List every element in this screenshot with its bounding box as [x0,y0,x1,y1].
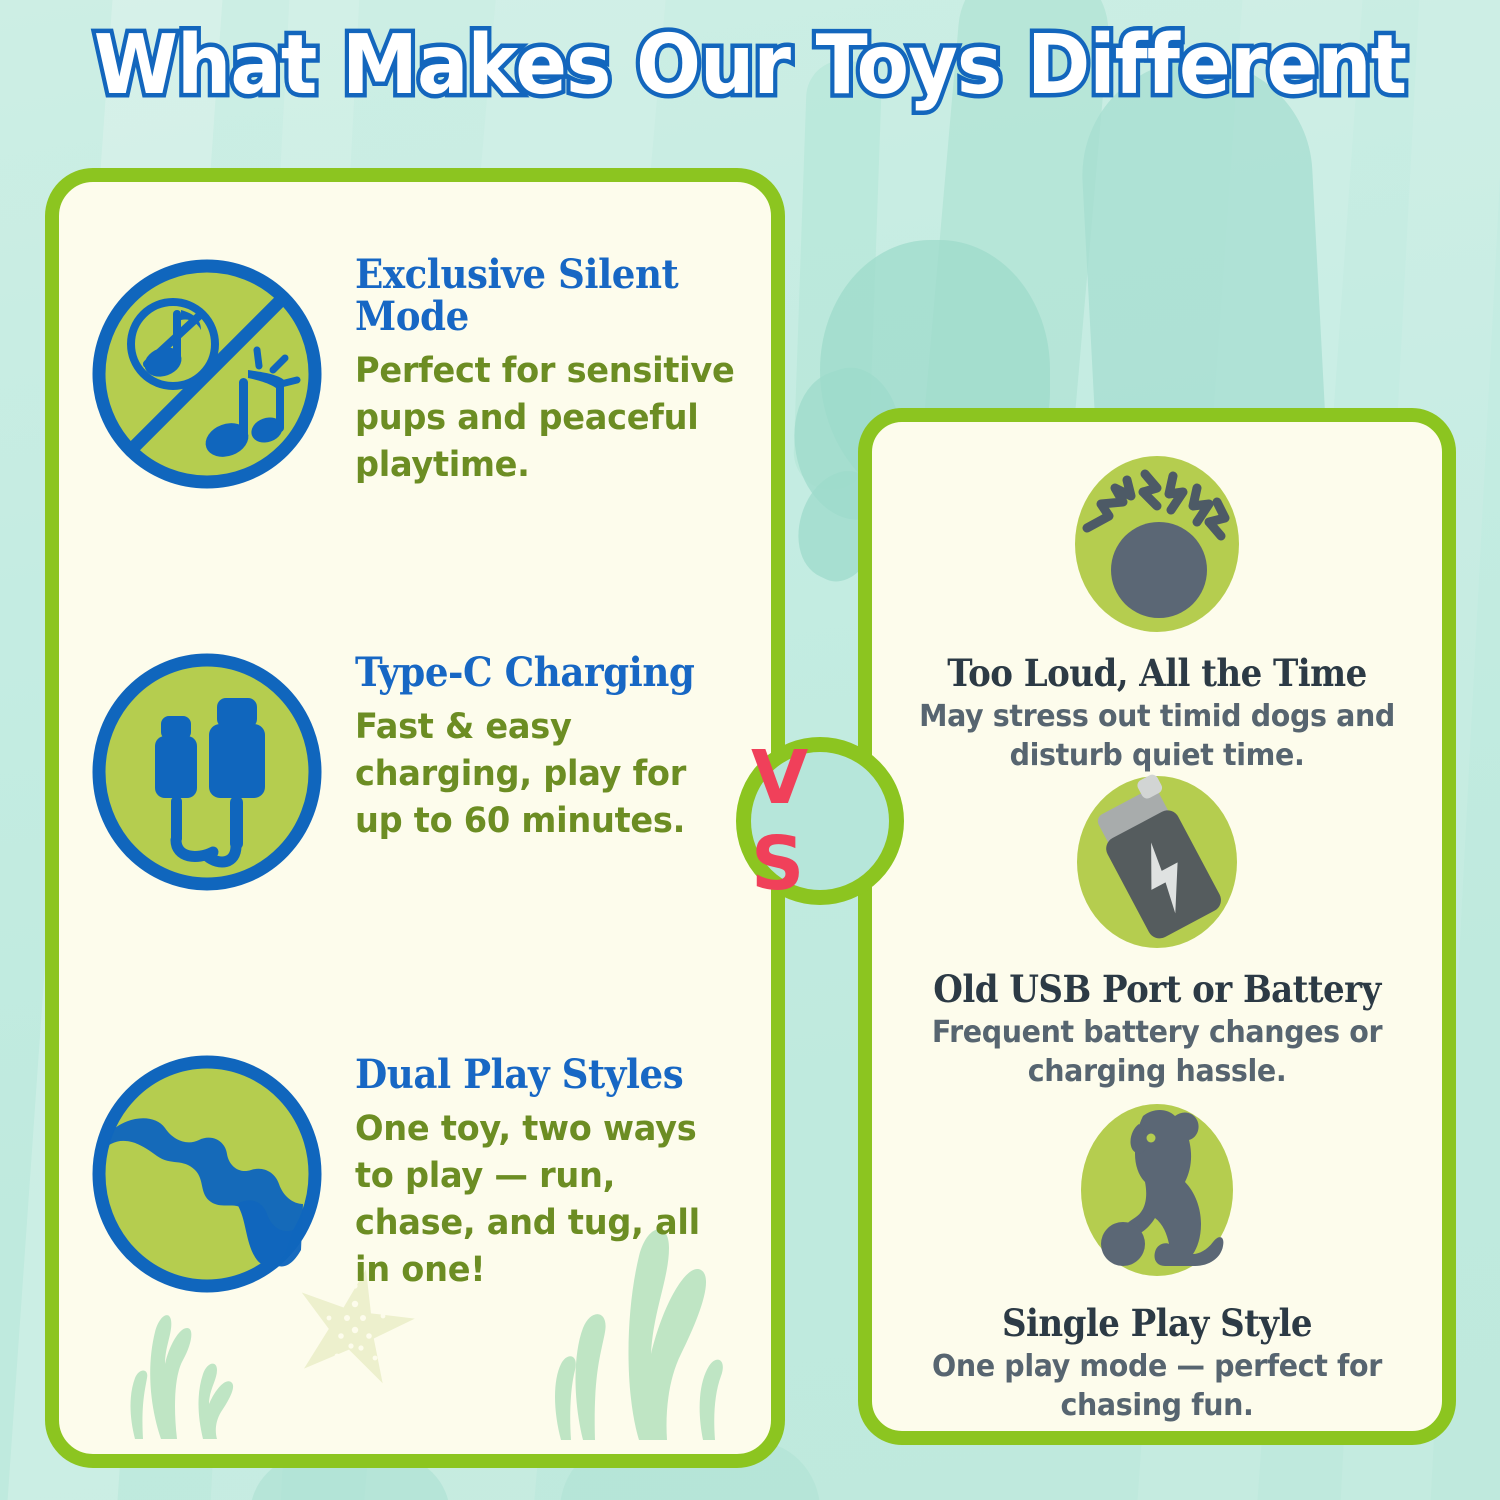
feature-row-silent-mode: Exclusive Silent Mode Perfect for sensit… [87,254,757,494]
globe-dual-play-icon [87,1054,327,1294]
loud-noise-ball-icon [872,444,1442,644]
feature-body: One toy, two ways to play — run, chase, … [355,1106,741,1294]
feature-body: Perfect for sensitive pups and peaceful … [355,348,741,489]
drawback-row-too-loud: Too Loud, All the Time May stress out ti… [872,444,1442,776]
feature-body: Fast & easy charging, play for up to 60 … [355,704,741,845]
drawback-heading: Old USB Port or Battery [895,970,1419,1009]
infographic-stage: What Makes Our Toys Different [0,0,1500,1500]
battery-icon [872,770,1442,960]
drawback-body: May stress out timid dogs and disturb qu… [886,697,1428,776]
drawback-row-single-play-style: Single Play Style One play mode — perfec… [872,1094,1442,1426]
usb-type-c-cable-icon [87,652,327,892]
drawback-body: One play mode — perfect for chasing fun. [886,1347,1428,1426]
page-title: What Makes Our Toys Different [53,18,1448,113]
drawback-heading: Too Loud, All the Time [895,654,1419,693]
feature-heading: Dual Play Styles [355,1054,729,1096]
other-toys-card: Too Loud, All the Time May stress out ti… [858,408,1456,1445]
our-toys-card: Exclusive Silent Mode Perfect for sensit… [45,168,785,1468]
feature-row-dual-play-styles: Dual Play Styles One toy, two ways to pl… [87,1054,757,1294]
dog-with-ball-icon [872,1094,1442,1294]
drawback-heading: Single Play Style [895,1304,1419,1343]
drawback-body: Frequent battery changes or charging has… [886,1013,1428,1092]
vs-badge: V S [736,737,904,905]
drawback-row-old-usb-battery: Old USB Port or Battery Frequent battery… [872,770,1442,1092]
feature-heading: Exclusive Silent Mode [355,254,729,338]
feature-heading: Type-C Charging [355,652,729,694]
feature-row-type-c-charging: Type-C Charging Fast & easy charging, pl… [87,652,757,892]
silent-mode-icon [87,254,327,494]
